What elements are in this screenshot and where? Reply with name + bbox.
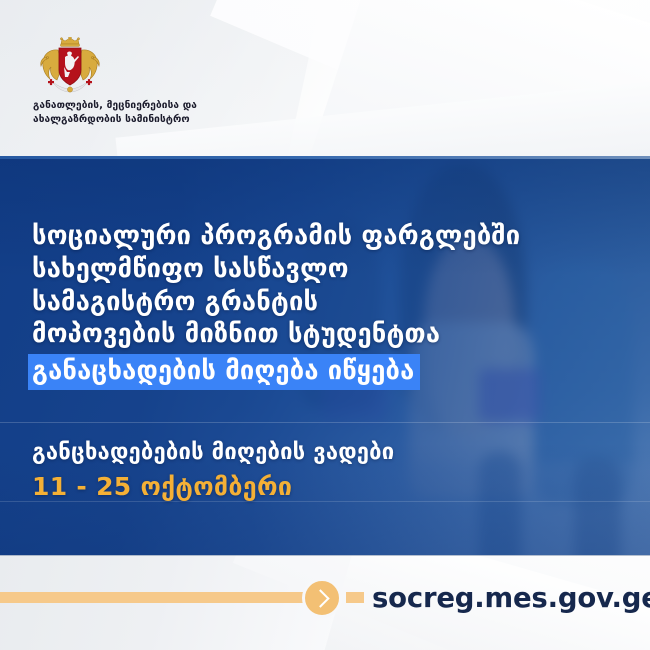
- dates-label: განცხადებების მიღების ვადები: [32, 439, 592, 467]
- headline-line-1: სოციალური პროგრამის ფარგლებში: [32, 220, 622, 253]
- dates-block: განცხადებების მიღების ვადები 11 - 25 ოქტ…: [32, 439, 592, 502]
- headline-highlight-line: განაცხადების მიღება იწყება: [28, 354, 420, 390]
- ministry-name-line1: განათლების, მეცნიერებისა და: [33, 99, 333, 113]
- hero-banner: სოციალური პროგრამის ფარგლებში სახელმწიფო…: [0, 156, 650, 555]
- ministry-name-line2: ახალგაზრდობის სამინისტრო: [33, 113, 333, 127]
- footer-gold-rule: [0, 592, 308, 603]
- georgia-coat-of-arms-icon: [34, 37, 106, 95]
- banner-divider-line: [0, 422, 650, 423]
- headline-line-3: სამაგისტრო გრანტის: [32, 286, 622, 319]
- banner-top-accent-line: [0, 156, 650, 159]
- poster-root: განათლების, მეცნიერებისა და ახალგაზრდობი…: [0, 0, 650, 650]
- headline-line-2: სახელმწიფო სასწავლო: [32, 253, 622, 286]
- website-url[interactable]: socreg.mes.gov.ge: [372, 582, 650, 614]
- header-band: განათლების, მეცნიერებისა და ახალგაზრდობი…: [0, 0, 650, 156]
- headline-block: სოციალური პროგრამის ფარგლებში სახელმწიფო…: [32, 220, 622, 390]
- chevron-right-icon[interactable]: [302, 578, 342, 618]
- dates-value: 11 - 25 ოქტომბერი: [32, 472, 592, 502]
- headline-line-4: მოპოვების მიზნით სტუდენტთა: [32, 318, 622, 351]
- footer-top-hairline: [0, 555, 650, 556]
- ministry-name: განათლების, მეცნიერებისა და ახალგაზრდობი…: [33, 99, 333, 127]
- footer-gold-dash: [346, 592, 364, 603]
- chevron-glyph: [311, 589, 329, 607]
